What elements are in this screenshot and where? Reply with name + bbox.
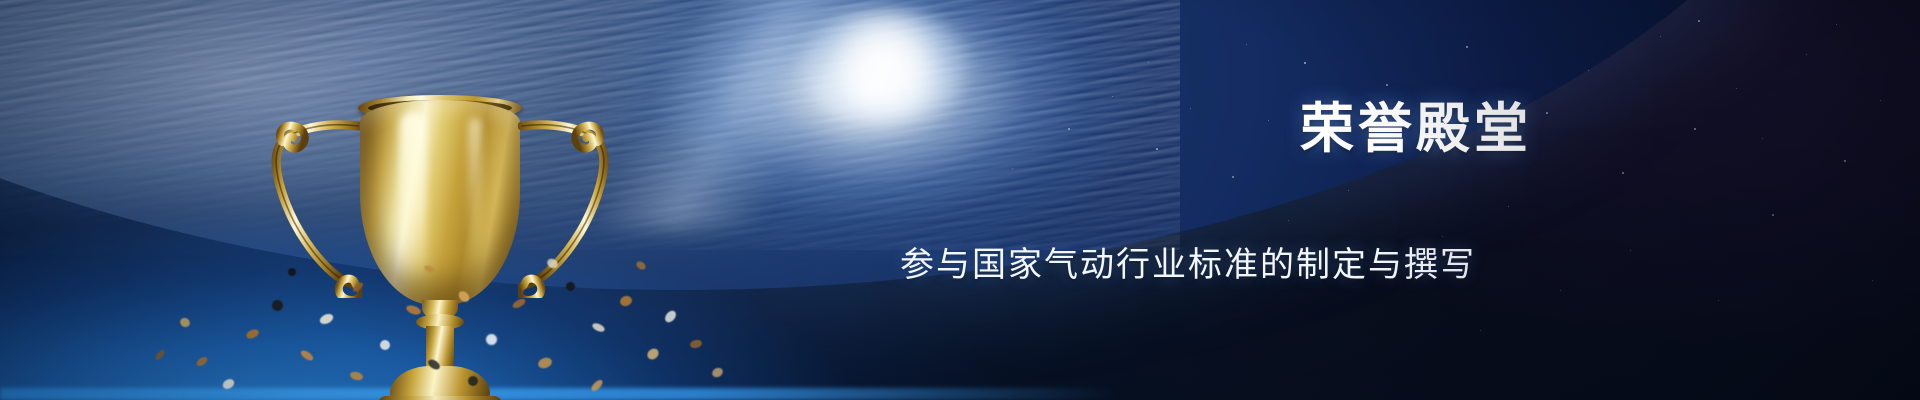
trophy-bowl: [360, 100, 520, 305]
trophy-handle-right-icon: [518, 120, 610, 298]
trophy-handle-left-icon: [270, 120, 362, 298]
honor-hall-banner: 荣誉殿堂 参与国家气动行业标准的制定与撰写: [0, 0, 1920, 400]
page-title: 荣誉殿堂: [1300, 102, 1532, 156]
sun-core-graphic: [800, 10, 970, 120]
page-subtitle: 参与国家气动行业标准的制定与撰写: [900, 248, 1476, 282]
trophy-highlight: [400, 112, 426, 282]
trophy-base: [378, 396, 502, 400]
trophy-foot: [390, 366, 490, 400]
trophy-highlight-secondary: [468, 118, 482, 268]
trophy-cup-icon: [250, 78, 670, 400]
